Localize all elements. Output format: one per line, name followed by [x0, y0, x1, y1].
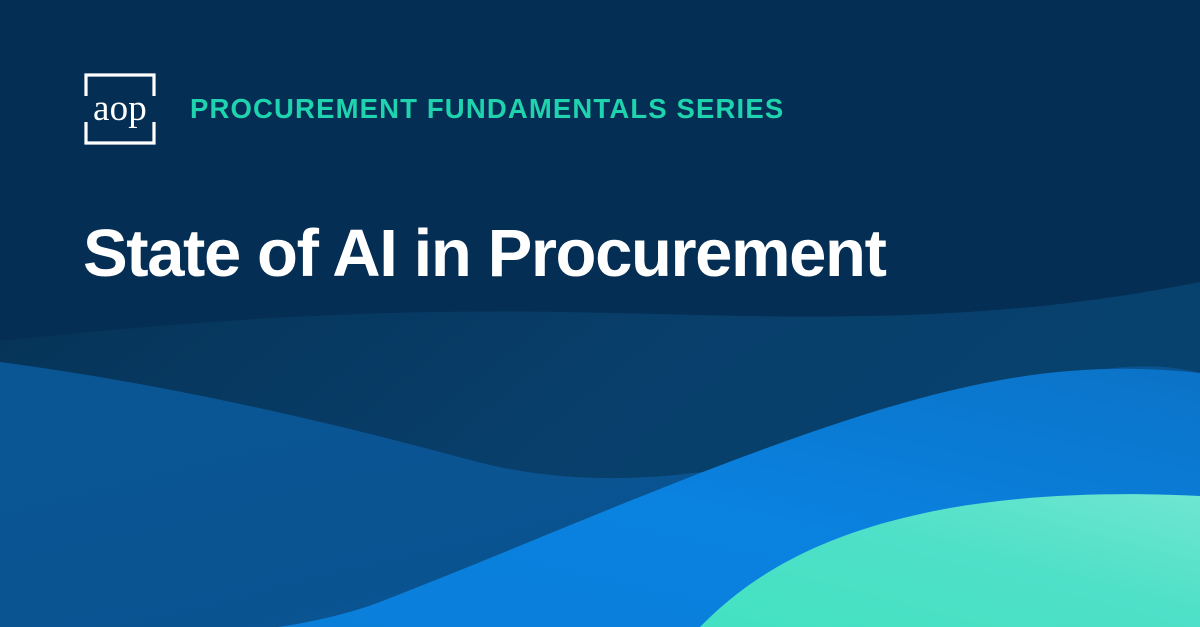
aop-logo-wordmark: aop — [83, 90, 157, 127]
page-title: State of AI in Procurement — [83, 218, 885, 289]
promo-banner: aop PROCUREMENT FUNDAMENTALS SERIES Stat… — [0, 0, 1200, 627]
aop-logo: aop — [83, 72, 157, 146]
series-tagline: PROCUREMENT FUNDAMENTALS SERIES — [190, 95, 784, 123]
banner-header: aop PROCUREMENT FUNDAMENTALS SERIES — [83, 72, 784, 146]
